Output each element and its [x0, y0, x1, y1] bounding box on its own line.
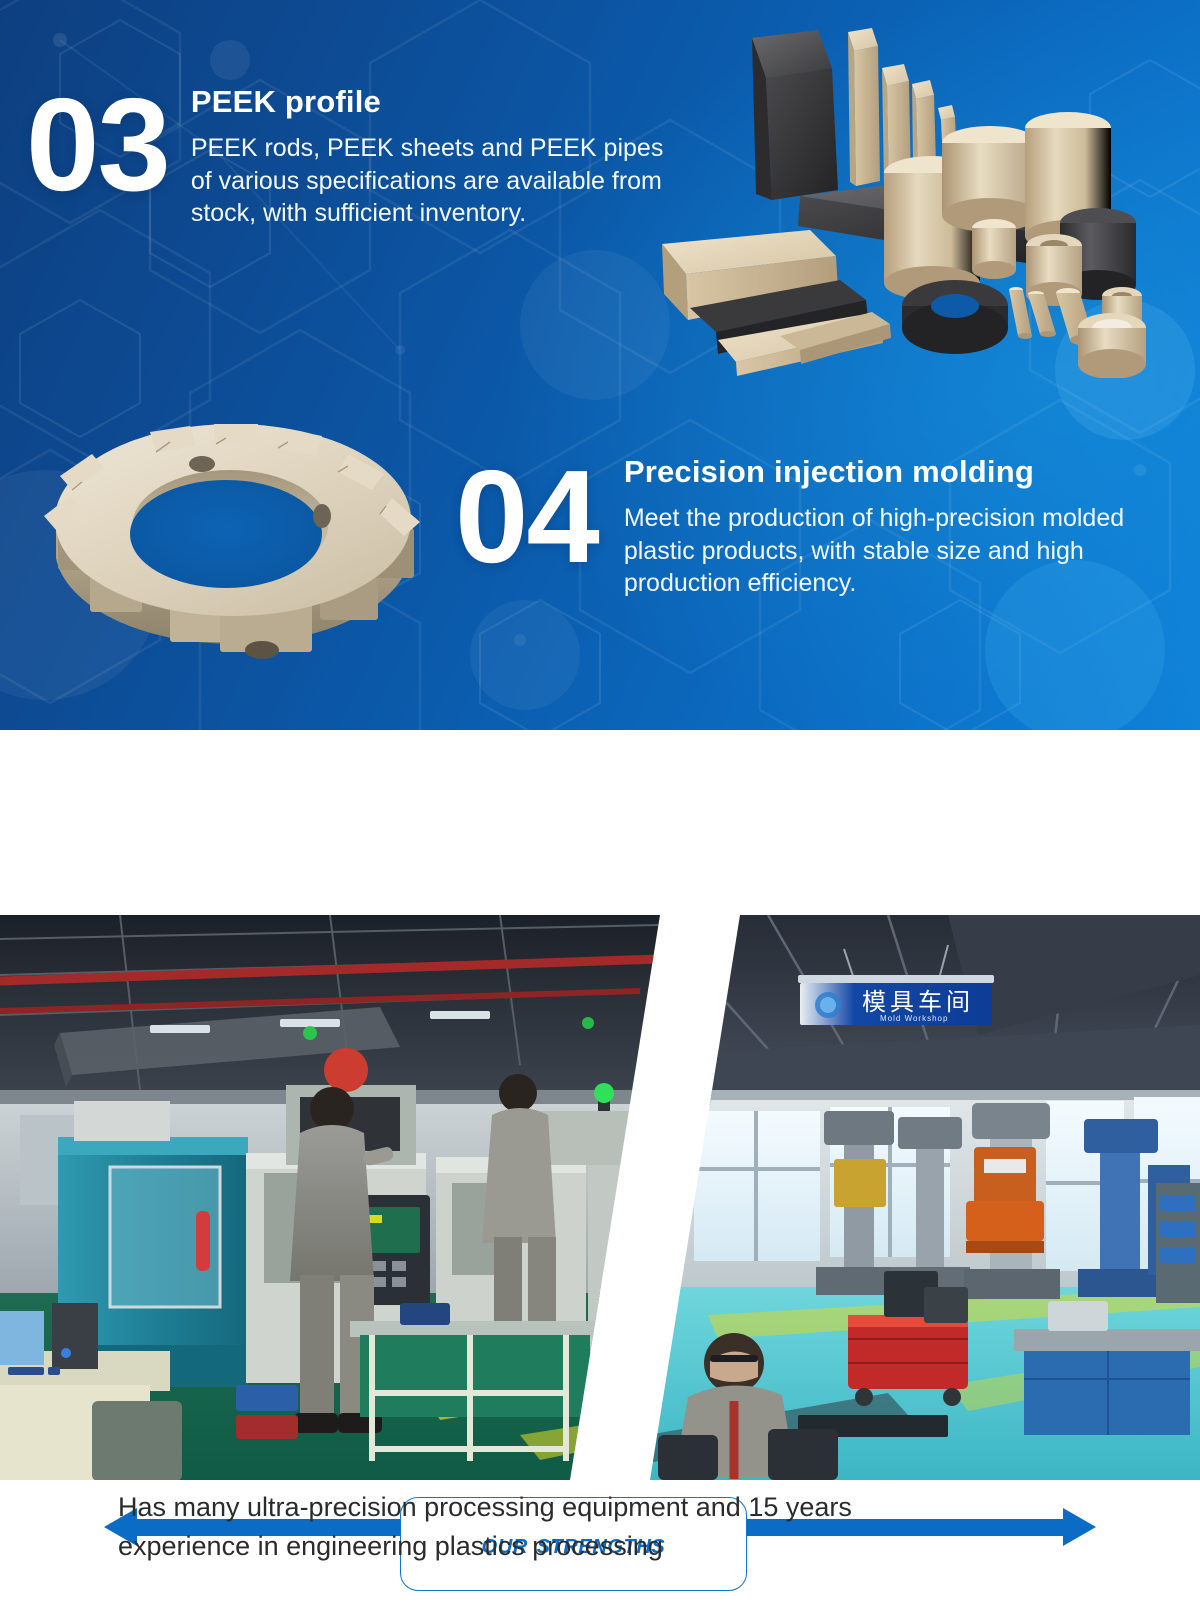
- feature-block-03: 03 PEEK profile PEEK rods, PEEK sheets a…: [26, 78, 666, 230]
- peek-gear-ring-photo: [30, 398, 432, 680]
- feature-text-04: Precision injection molding Meet the pro…: [598, 448, 1195, 600]
- page-root: 03 PEEK profile PEEK rods, PEEK sheets a…: [0, 0, 1200, 1624]
- decorative-circle: [520, 250, 670, 400]
- strengths-banner: Our strengths: [0, 730, 1200, 905]
- feature-block-04: 04 Precision injection molding Meet the …: [455, 448, 1195, 600]
- bottom-caption: Has many ultra-precision processing equi…: [118, 1488, 1118, 1566]
- feature-number-03: 03: [26, 82, 169, 230]
- feature-number-04: 04: [455, 454, 598, 600]
- caption-line-2: experience in engineering plastics proce…: [118, 1527, 1118, 1566]
- mold-workshop-photo: 模具车间 Mold Workshop: [648, 915, 1200, 1480]
- feature-title-04: Precision injection molding: [624, 454, 1195, 490]
- svg-text:Mold Workshop: Mold Workshop: [880, 1014, 948, 1023]
- svg-text:模具车间: 模具车间: [862, 988, 974, 1016]
- caption-line-1: Has many ultra-precision processing equi…: [118, 1488, 1118, 1527]
- blue-feature-panel: 03 PEEK profile PEEK rods, PEEK sheets a…: [0, 0, 1200, 730]
- feature-body-04: Meet the production of high-precision mo…: [624, 502, 1195, 600]
- feature-text-03: PEEK profile PEEK rods, PEEK sheets and …: [169, 78, 666, 230]
- workshop-photo-strip: 模具车间 Mold Workshop: [0, 905, 1200, 1480]
- cnc-machining-workshop-photo: [0, 915, 660, 1480]
- decorative-circle: [210, 40, 250, 80]
- feature-title-03: PEEK profile: [191, 84, 666, 120]
- peek-rods-sheets-pipes-photo: [660, 18, 1180, 378]
- decorative-circle: [470, 600, 580, 710]
- feature-body-03: PEEK rods, PEEK sheets and PEEK pipes of…: [191, 132, 666, 230]
